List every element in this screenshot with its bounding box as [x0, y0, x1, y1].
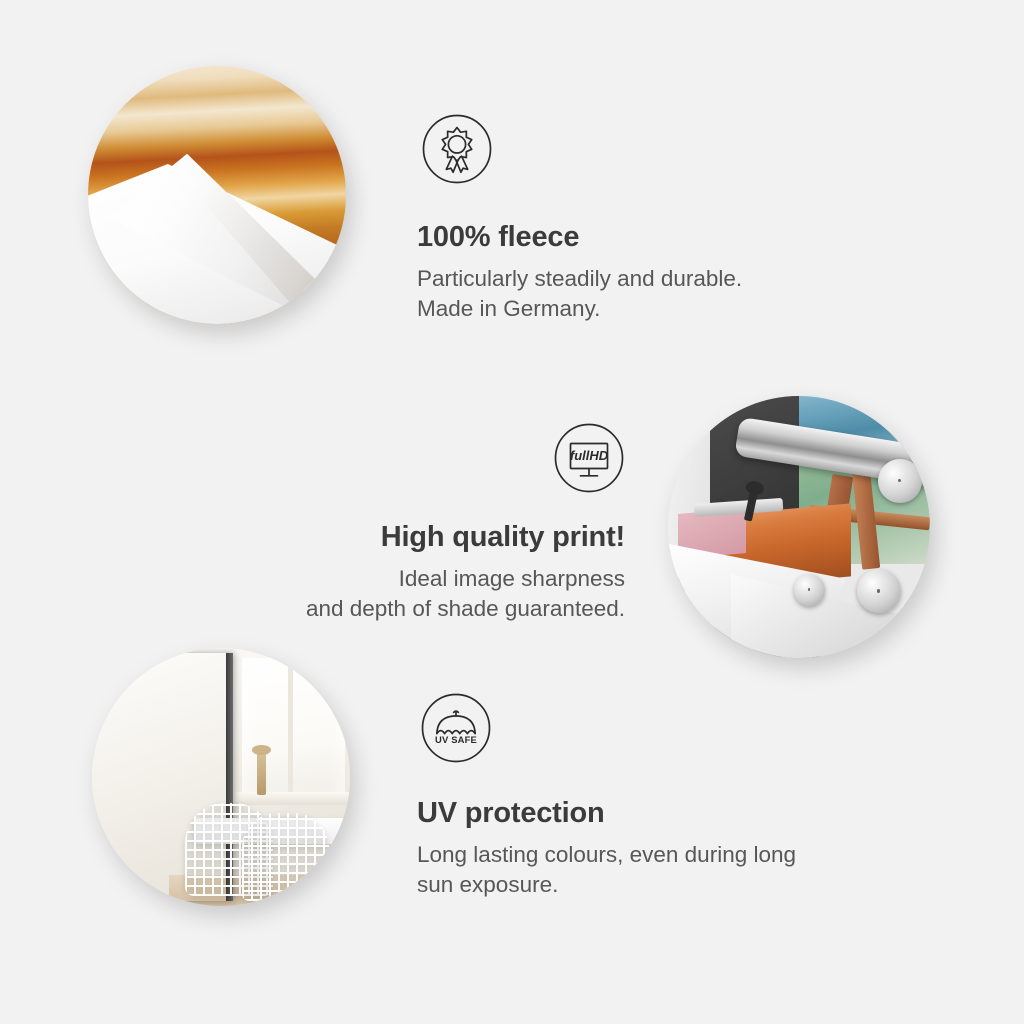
- wallpaper-peel-image: [88, 66, 346, 324]
- window-frame: [288, 658, 293, 797]
- feature-body-fleece: Particularly steadily and durable. Made …: [417, 264, 742, 323]
- printer-small-knob: [794, 574, 825, 605]
- feature-text-uv: UV protection Long lasting colours, even…: [417, 798, 796, 899]
- uv-safe-umbrella-icon: UV SAFE: [420, 692, 492, 764]
- window-sill: [236, 792, 350, 805]
- feature-body-line: and depth of shade guaranteed.: [225, 594, 625, 624]
- feature-text-print: High quality print! Ideal image sharpnes…: [225, 522, 625, 623]
- feature-heading-print: High quality print!: [225, 522, 625, 554]
- feature-body-uv: Long lasting colours, even during long s…: [417, 840, 796, 899]
- feature-body-line: sun exposure.: [417, 870, 796, 900]
- printing-machine-photo: [668, 396, 930, 658]
- feature-body-line: Particularly steadily and durable.: [417, 264, 742, 294]
- svg-text:fullHD: fullHD: [570, 448, 609, 463]
- candle-holder: [257, 751, 266, 795]
- svg-text:UV SAFE: UV SAFE: [435, 734, 477, 745]
- fullhd-monitor-icon: fullHD: [553, 422, 625, 494]
- feature-heading-uv: UV protection: [417, 798, 796, 830]
- mandala-interior-photo: [92, 648, 350, 906]
- mandala-interior-image: [92, 648, 350, 906]
- wallpaper-peel-photo: [88, 66, 346, 324]
- feature-body-line: Ideal image sharpness: [225, 564, 625, 594]
- award-ribbon-icon: [421, 113, 493, 185]
- feature-text-fleece: 100% fleece Particularly steadily and du…: [417, 222, 742, 323]
- wire-chair: [242, 813, 330, 901]
- feature-heading-fleece: 100% fleece: [417, 222, 742, 254]
- feature-body-print: Ideal image sharpness and depth of shade…: [225, 564, 625, 623]
- feature-body-line: Made in Germany.: [417, 294, 742, 324]
- feature-body-line: Long lasting colours, even during long: [417, 840, 796, 870]
- printing-machine-image: [668, 396, 930, 658]
- infographic-canvas: 100% fleece Particularly steadily and du…: [0, 0, 1024, 1024]
